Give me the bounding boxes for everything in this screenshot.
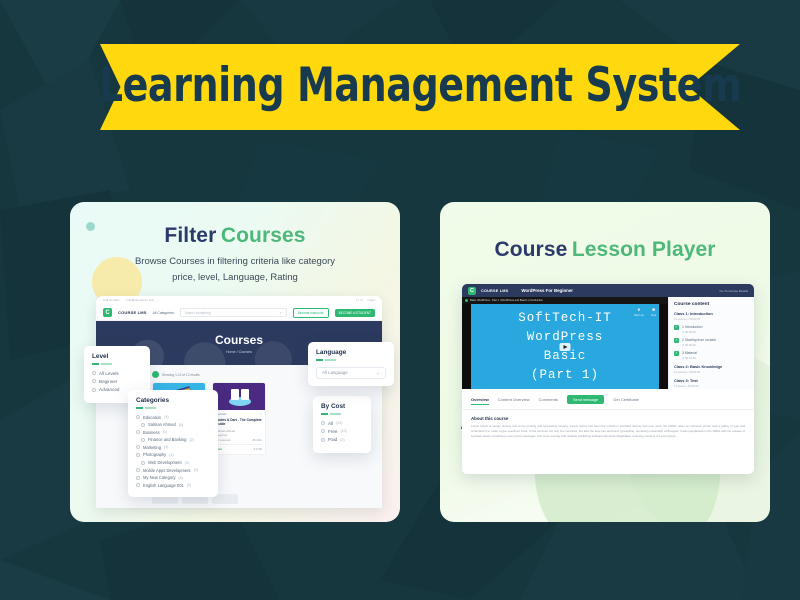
title-underline bbox=[92, 363, 142, 365]
category-option[interactable]: Marketing(1) bbox=[136, 445, 210, 450]
radio-icon bbox=[136, 415, 140, 419]
class-meta: 2 Lessons • 00:00:00 bbox=[674, 370, 749, 374]
category-option-count: (1) bbox=[164, 445, 168, 449]
cost-option-count: (12) bbox=[336, 421, 342, 425]
player-topbar: Basic WordPress - Part 1 | WordPress and… bbox=[462, 297, 668, 304]
course-title[interactable]: Nodes & Dart - The Complete Guide bbox=[216, 418, 262, 427]
chat-icon: ■ bbox=[651, 308, 656, 313]
chevron-down-icon: ⌄ bbox=[376, 370, 380, 376]
course-lesson-player-card: Course Lesson Player C COURSE LMS WordPr… bbox=[440, 202, 770, 522]
level-panel-title: Level bbox=[92, 353, 142, 360]
course-content-list: Class 1: Introduction3 Lessons • 00:00:0… bbox=[674, 311, 749, 388]
language-panel-title: Language bbox=[316, 349, 386, 356]
lesson-duration: ⏱ 00:00:00 bbox=[682, 330, 703, 334]
lesson-title: 1 Introduction bbox=[682, 325, 703, 329]
cost-panel-title: By Cost bbox=[321, 403, 363, 410]
radio-icon bbox=[321, 421, 325, 425]
search-placeholder: Search something bbox=[185, 311, 211, 315]
chat-label: Chat bbox=[651, 314, 656, 317]
class-heading[interactable]: Class 3: Test bbox=[674, 378, 749, 383]
lesson-item[interactable]: ✓3 Material⏱ 00:10:00 bbox=[674, 351, 749, 360]
player-navbar: C COURSE LMS WordPress For Beginner Go T… bbox=[462, 284, 754, 297]
radio-icon bbox=[321, 438, 325, 442]
level-option-label: Beginner bbox=[99, 379, 117, 384]
course-footer: Free 4.0 (8) bbox=[216, 444, 262, 451]
results-icon bbox=[152, 371, 159, 378]
category-option[interactable]: English Language 001(0) bbox=[136, 483, 210, 488]
get-certificate-link[interactable]: Get Certificate bbox=[613, 397, 639, 402]
course-card-body: Business ♡ Nodes & Dart - The Complete G… bbox=[213, 410, 265, 454]
social-icons[interactable]: f t in bbox=[357, 299, 363, 302]
radio-icon bbox=[141, 461, 145, 465]
video-player[interactable]: Basic WordPress - Part 1 | WordPress and… bbox=[462, 297, 668, 389]
topbar: Call Us Now info@courselms.com f t in Lo… bbox=[96, 296, 382, 305]
about-course-section: About this course Lorem Ipsum is simply … bbox=[462, 410, 754, 445]
lesson-duration: ⏱ 00:10:00 bbox=[682, 356, 697, 360]
course-card[interactable]: Business ♡ Nodes & Dart - The Complete G… bbox=[212, 382, 266, 455]
level-option-label: All Levels bbox=[99, 371, 119, 376]
topbar-email: info@courselms.com bbox=[126, 299, 154, 302]
nav-categories-link[interactable]: All Categories bbox=[153, 311, 174, 315]
category-option-count: (3) bbox=[185, 461, 189, 465]
lightbulb-icon: ● bbox=[634, 308, 644, 313]
category-option-label: My New Category bbox=[143, 475, 176, 480]
become-student-button[interactable]: BECOME A STUDENT bbox=[335, 309, 375, 317]
lesson-item[interactable]: ✓1 Introduction⏱ 00:00:00 bbox=[674, 325, 749, 334]
video-frame[interactable]: SoftTech-IT WordPress Basic (Part 1) bbox=[471, 304, 659, 389]
category-option-count: (1) bbox=[163, 430, 167, 434]
category-option[interactable]: Web Development(3) bbox=[136, 460, 210, 465]
category-option-label: Web Development bbox=[148, 460, 182, 465]
about-heading: About this course bbox=[471, 416, 745, 421]
breadcrumb: Home / Courses bbox=[226, 350, 252, 354]
category-option-count: (1) bbox=[169, 453, 173, 457]
search-input[interactable]: Search something ⌕ bbox=[180, 308, 287, 317]
categories-filter-panel: Categories Education(4)Salman Ahmed(0)Bu… bbox=[128, 390, 218, 497]
category-option-count: (2) bbox=[189, 438, 193, 442]
lesson-duration: ⏱ 00:00:00 bbox=[682, 343, 716, 347]
about-body: Lorem Ipsum is simply dummy text of the … bbox=[471, 424, 745, 439]
tab-comments[interactable]: Comments bbox=[539, 397, 558, 402]
course-lessons: 10 Lessons bbox=[216, 438, 230, 442]
category-option[interactable]: Finance and Banking(2) bbox=[136, 437, 210, 442]
site-navbar: C COURSE LMS All Categories Search somet… bbox=[96, 305, 382, 321]
cost-option-free[interactable]: Free (10) bbox=[321, 429, 363, 434]
lesson-title: 3 Material bbox=[682, 351, 697, 355]
become-instructor-button[interactable]: Become Instructor bbox=[293, 308, 329, 318]
category-option-count: (0) bbox=[187, 483, 191, 487]
course-name: WordPress For Beginner bbox=[521, 288, 573, 293]
logo-icon: C bbox=[468, 287, 476, 295]
video-text-line: (Part 1) bbox=[531, 368, 599, 382]
category-option[interactable]: Business(1) bbox=[136, 430, 210, 435]
page-title: Learning Management System bbox=[132, 44, 708, 130]
logo-text[interactable]: COURSE LMS bbox=[118, 310, 147, 315]
language-filter-panel: Language All Language ⌄ bbox=[308, 342, 394, 386]
video-text-line: Basic bbox=[544, 349, 587, 363]
cost-filter-panel: By Cost All (12) Free (10) Paid (2) bbox=[313, 396, 371, 453]
cost-option-label: Paid bbox=[328, 437, 337, 442]
heart-icon[interactable]: ♡ bbox=[260, 413, 262, 416]
course-content-panel: Course content Class 1: Introduction3 Le… bbox=[668, 297, 754, 389]
category-option-count: (4) bbox=[164, 415, 168, 419]
radio-icon bbox=[136, 453, 140, 457]
course-details-link[interactable]: Go To Course Details bbox=[720, 289, 748, 293]
cost-option-label: Free bbox=[328, 429, 337, 434]
category-option[interactable]: Salman Ahmed(0) bbox=[136, 422, 210, 427]
radio-icon bbox=[141, 423, 145, 427]
category-option-label: Marketing bbox=[143, 445, 161, 450]
radio-icon bbox=[136, 445, 140, 449]
lesson-item[interactable]: ✓2 Starting from scratch⏱ 00:00:00 bbox=[674, 338, 749, 347]
category-option-label: English Language 001 bbox=[143, 483, 184, 488]
topbar-phone: Call Us Now bbox=[103, 299, 119, 302]
results-count: Showing 1-12 of 12 results bbox=[162, 373, 200, 377]
status-dot-icon bbox=[465, 299, 468, 302]
title-underline bbox=[321, 413, 363, 415]
category-option-label: Education bbox=[143, 415, 161, 420]
level-option-label: Advanced bbox=[99, 387, 119, 392]
lesson-title: 2 Starting from scratch bbox=[682, 338, 716, 342]
course-badge: Business ♡ bbox=[216, 413, 262, 416]
banner-ribbon: Learning Management System bbox=[100, 44, 740, 130]
check-icon[interactable]: ✓ bbox=[674, 338, 679, 343]
category-option-label: Finance and Banking bbox=[148, 437, 186, 442]
start-live-button[interactable]: ● Start Live bbox=[634, 308, 644, 317]
topbar-login-link[interactable]: Login bbox=[368, 299, 375, 302]
course-rating: 4.0 (8) bbox=[254, 447, 262, 451]
check-icon[interactable]: ✓ bbox=[674, 351, 679, 356]
radio-icon bbox=[136, 483, 140, 487]
category-option-count: (0) bbox=[179, 423, 183, 427]
category-option[interactable]: Education(4) bbox=[136, 415, 210, 420]
category-option[interactable]: My New Category(0) bbox=[136, 475, 210, 480]
right-heading-green: Lesson Player bbox=[572, 238, 716, 261]
radio-icon bbox=[92, 371, 96, 375]
player-stage: Basic WordPress - Part 1 | WordPress and… bbox=[462, 297, 754, 389]
radio-icon bbox=[136, 468, 140, 472]
course-thumbnail bbox=[213, 383, 265, 410]
class-meta: 1 Lesson • 00:00:00 bbox=[674, 384, 749, 388]
cost-option-label: All bbox=[328, 421, 333, 426]
topbar-right: f t in Login bbox=[357, 299, 375, 302]
radio-icon bbox=[92, 379, 96, 383]
language-select[interactable]: All Language ⌄ bbox=[316, 367, 386, 379]
left-heading-dark: Filter bbox=[164, 224, 216, 247]
title-underline bbox=[136, 407, 210, 409]
cost-option-all[interactable]: All (12) bbox=[321, 421, 363, 426]
cost-option-count: (2) bbox=[340, 438, 344, 442]
chat-button[interactable]: ■ Chat bbox=[651, 308, 656, 317]
radio-icon bbox=[136, 476, 140, 480]
cost-option-paid[interactable]: Paid (2) bbox=[321, 437, 363, 442]
level-option-all-levels[interactable]: All Levels bbox=[92, 371, 142, 376]
category-option-count: (0) bbox=[179, 476, 183, 480]
poster-canvas: Learning Management System Filter Course… bbox=[0, 0, 800, 600]
language-selected-value: All Language bbox=[322, 370, 348, 375]
category-option-label: Mobile Apps Development bbox=[143, 468, 191, 473]
category-option-label: Salman Ahmed bbox=[148, 422, 176, 427]
lesson-tabs: Overview Content Overview Comments Send … bbox=[462, 389, 754, 410]
subtitle-line-2: price, level, Language, Rating bbox=[70, 270, 400, 286]
radio-icon bbox=[141, 438, 145, 442]
filter-courses-card: Filter Courses Browse Courses in filteri… bbox=[70, 202, 400, 522]
left-card-heading: Filter Courses bbox=[70, 224, 400, 248]
class-meta: 3 Lessons • 00:00:00 bbox=[674, 317, 749, 321]
logo-text[interactable]: COURSE LMS bbox=[481, 289, 508, 293]
category-option[interactable]: Mobile Apps Development(2) bbox=[136, 468, 210, 473]
radio-icon bbox=[321, 429, 325, 433]
radio-icon bbox=[136, 430, 140, 434]
class-heading[interactable]: Class 1: Introduction bbox=[674, 311, 749, 316]
level-option-beginner[interactable]: Beginner bbox=[92, 379, 142, 384]
thumb-shape bbox=[231, 389, 239, 400]
tab-content-overview[interactable]: Content Overview bbox=[498, 397, 530, 402]
radio-icon bbox=[92, 388, 96, 392]
course-content-title: Course content bbox=[674, 302, 749, 307]
left-card-subtitle: Browse Courses in filtering criteria lik… bbox=[70, 254, 400, 285]
cost-option-count: (10) bbox=[340, 429, 346, 433]
title-underline bbox=[316, 359, 386, 361]
thumb-shape bbox=[241, 389, 249, 400]
category-option-label: Business bbox=[143, 430, 160, 435]
search-icon: ⌕ bbox=[279, 310, 281, 315]
tab-overview[interactable]: Overview bbox=[471, 397, 489, 402]
course-stats: 10 Lessons 8h 40m bbox=[216, 438, 262, 442]
class-heading[interactable]: Class 2: Basic Knowledge bbox=[674, 364, 749, 369]
hero-title: Courses bbox=[215, 333, 263, 347]
subtitle-line-1: Browse Courses in filtering criteria lik… bbox=[70, 254, 400, 270]
check-icon[interactable]: ✓ bbox=[674, 325, 679, 330]
category-option-label: Photography bbox=[143, 452, 166, 457]
right-card-heading: Course Lesson Player bbox=[440, 238, 770, 262]
player-tools: ● Start Live ■ Chat bbox=[634, 308, 656, 317]
send-message-button[interactable]: Send message bbox=[567, 395, 604, 404]
course-duration: 8h 40m bbox=[253, 438, 262, 442]
lesson-player-mockup: C COURSE LMS WordPress For Beginner Go T… bbox=[462, 284, 754, 474]
right-heading-dark: Course bbox=[494, 238, 567, 261]
video-text-line: SoftTech-IT bbox=[518, 311, 612, 325]
start-live-label: Start Live bbox=[634, 314, 644, 317]
category-option[interactable]: Photography(1) bbox=[136, 452, 210, 457]
play-icon[interactable] bbox=[560, 343, 571, 351]
player-lesson-label: Basic WordPress - Part 1 | WordPress and… bbox=[470, 299, 543, 302]
left-heading-green: Courses bbox=[221, 224, 306, 247]
logo-icon: C bbox=[103, 308, 112, 317]
categories-panel-title: Categories bbox=[136, 397, 210, 404]
category-option-count: (2) bbox=[194, 468, 198, 472]
category-option-list: Education(4)Salman Ahmed(0)Business(1)Fi… bbox=[136, 415, 210, 488]
